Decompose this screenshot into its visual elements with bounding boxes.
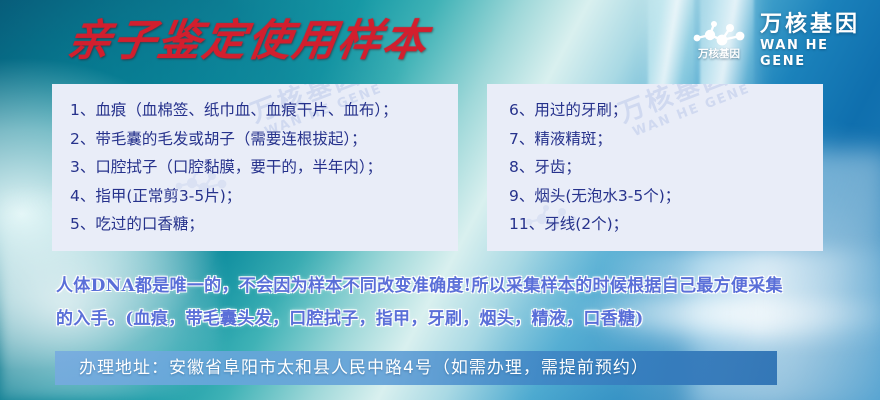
sample-card-right: 万核基因 WAN HE GENE [487,84,823,251]
brand-logo: 万核基因 万核基因 WAN HE GENE [688,12,880,70]
sample-card-left: 万核基因 WAN HE GENE [52,84,458,251]
address-text: 办理地址：安徽省阜阳市太和县人民中路4号（如需办理，需提前预约） [55,351,649,385]
list-item: 8、牙齿； [509,153,823,182]
list-item: 7、精液精斑； [509,125,823,154]
brand-name-cn: 万核基因 [760,12,880,37]
list-item: 6、用过的牙刷； [509,96,823,125]
note-line-2: 的入手。(血痕，带毛囊头发，口腔拭子，指甲，牙刷，烟头，精液，口香糖) [56,303,844,336]
list-item: 4、指甲(正常剪3-5片)； [70,182,458,211]
list-item: 1、血痕（血棉签、纸巾血、血痕干片、血布）； [70,96,458,125]
list-item: 9、烟头(无泡水3-5个)； [509,182,823,211]
poster-canvas: 亲子鉴定使用样本 [0,0,880,400]
molecule-icon [688,18,750,50]
brand-mark: 万核基因 [688,18,750,64]
page-title: 亲子鉴定使用样本 [64,14,433,68]
note-paragraph: 人体DNA都是唯一的，不会因为样本不同改变准确度!所以采集样本的时候根据自己最方… [56,270,844,336]
list-item: 5、吃过的口香糖； [70,210,458,239]
list-item: 2、带毛囊的毛发或胡子（需要连根拔起）； [70,125,458,154]
brand-text: 万核基因 WAN HE GENE [760,12,880,70]
brand-name-en: WAN HE GENE [760,38,880,70]
sample-list-right: 6、用过的牙刷； 7、精液精斑； 8、牙齿； 9、烟头(无泡水3-5个)； 11… [487,84,823,239]
list-item: 11、牙线(2个)； [509,210,823,239]
brand-mark-label: 万核基因 [698,49,740,60]
list-item: 3、口腔拭子（口腔黏膜，要干的，半年内）； [70,153,458,182]
note-line-1: 人体DNA都是唯一的，不会因为样本不同改变准确度!所以采集样本的时候根据自己最方… [56,270,844,303]
sample-list-left: 1、血痕（血棉签、纸巾血、血痕干片、血布）； 2、带毛囊的毛发或胡子（需要连根拔… [52,84,458,239]
address-bar: 办理地址：安徽省阜阳市太和县人民中路4号（如需办理，需提前预约） [55,351,777,385]
